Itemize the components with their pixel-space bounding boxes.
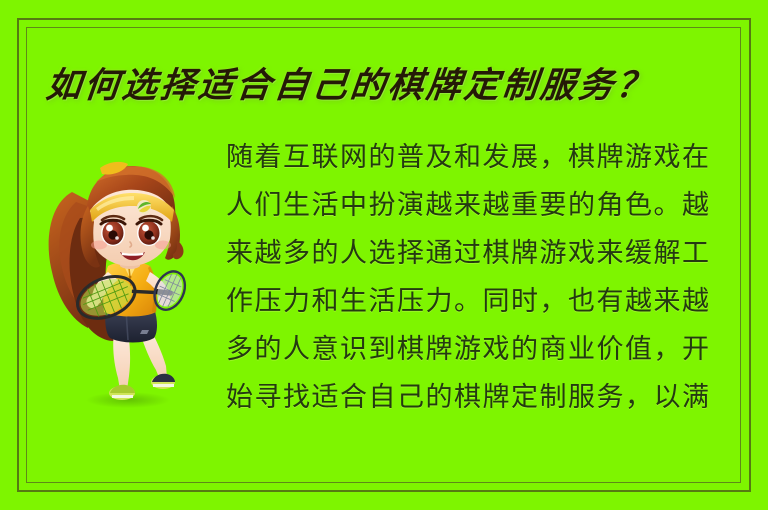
body-line: 随着互联网的普及和发展，棋牌游戏在	[226, 134, 734, 182]
blush-right	[155, 241, 171, 250]
shoe-left	[109, 385, 135, 400]
body-line: 来越多的人选择通过棋牌游戏来缓解工	[226, 230, 734, 278]
blush-left	[91, 241, 107, 250]
chibi-badminton-girl-illustration	[36, 132, 216, 410]
body-line: 始寻找适合自己的棋牌定制服务，以满	[226, 374, 734, 422]
article-body: 随着互联网的普及和发展，棋牌游戏在 人们生活中扮演越来越重要的角色。越 来越多的…	[226, 134, 734, 422]
article-banner: 如何选择适合自己的棋牌定制服务？	[0, 0, 768, 510]
page-title: 如何选择适合自己的棋牌定制服务？	[43, 60, 709, 114]
shoe-right	[151, 374, 175, 389]
body-line: 人们生活中扮演越来越重要的角色。越	[226, 182, 734, 230]
body-line: 作压力和生活压力。同时，也有越来越	[226, 278, 734, 326]
headband-emblem	[137, 200, 151, 214]
body-line: 多的人意识到棋牌游戏的商业价值，开	[226, 326, 734, 374]
shirt-button	[129, 276, 132, 279]
